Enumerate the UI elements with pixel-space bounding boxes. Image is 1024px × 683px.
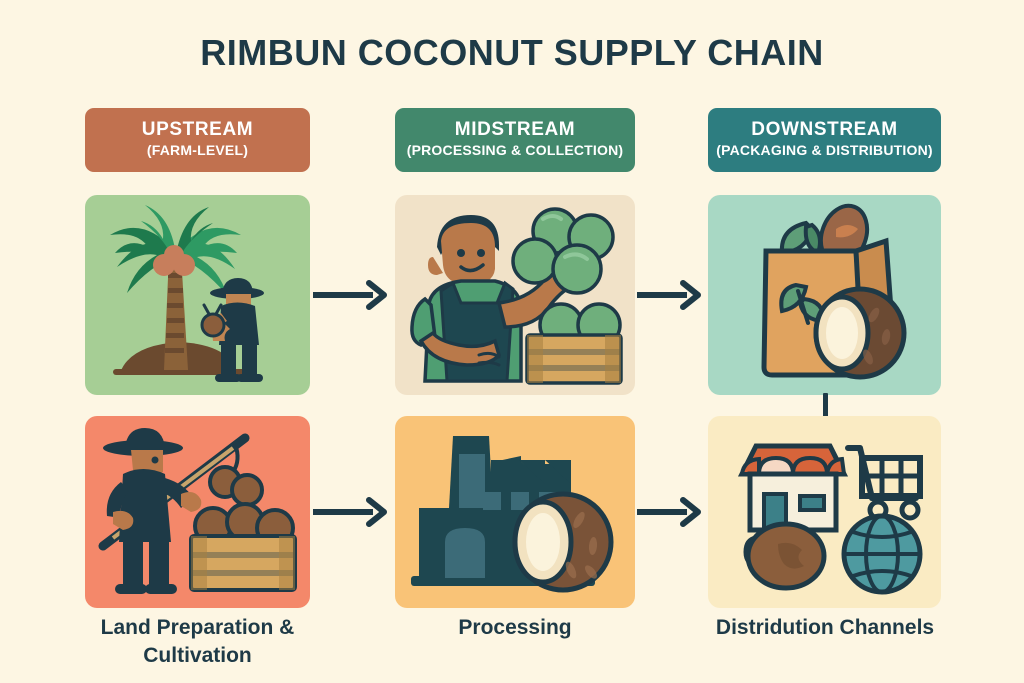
- panel-packaged-product: [708, 195, 941, 395]
- arrow-upstream-to-midstream-bottom: [313, 495, 393, 529]
- stage-subheading-downstream: (PACKAGING & DISTRIBUTION): [716, 142, 933, 160]
- caption-upstream: Land Preparation & Cultivation: [65, 614, 330, 670]
- worker-collecting-coconuts-icon: [412, 209, 621, 383]
- caption-midstream: Processing: [395, 614, 635, 642]
- factory-coconut-icon: [411, 436, 611, 590]
- panel-worker-collecting: [395, 195, 635, 395]
- panel-harvester-pole: [85, 416, 310, 608]
- page-title: RIMBUN COCONUT SUPPLY CHAIN: [0, 32, 1024, 74]
- arrow-midstream-to-downstream-bottom: [637, 495, 707, 529]
- globe-icon: [844, 516, 920, 592]
- packaged-product-bag-icon: [764, 199, 904, 377]
- stage-header-downstream: DOWNSTREAM (PACKAGING & DISTRIBUTION): [708, 108, 941, 172]
- stage-subheading-upstream: (FARM-LEVEL): [147, 142, 248, 160]
- palm-tree-farmer-icon: [110, 205, 264, 382]
- panel-factory-processing: [395, 416, 635, 608]
- stage-heading-downstream: DOWNSTREAM: [751, 120, 897, 140]
- stage-header-upstream: UPSTREAM (FARM-LEVEL): [85, 108, 310, 172]
- arrow-upstream-to-midstream-top: [313, 278, 393, 312]
- panel-distribution-channels: [708, 416, 941, 608]
- stage-heading-midstream: MIDSTREAM: [455, 120, 575, 140]
- infographic-canvas: RIMBUN COCONUT SUPPLY CHAIN UPSTREAM (FA…: [0, 0, 1024, 683]
- arrow-midstream-to-downstream-top: [637, 278, 707, 312]
- caption-downstream: Distridution Channels: [710, 614, 940, 642]
- harvester-pole-crate-icon: [103, 428, 295, 594]
- panel-palm-tree-farmer: [85, 195, 310, 395]
- connector-downstream-vertical: [823, 393, 828, 418]
- stage-subheading-midstream: (PROCESSING & COLLECTION): [407, 142, 624, 160]
- coconut-icon: [746, 524, 824, 588]
- storefront-icon: [742, 446, 844, 530]
- stage-heading-upstream: UPSTREAM: [142, 120, 253, 140]
- shopping-cart-icon: [848, 448, 920, 518]
- stage-header-midstream: MIDSTREAM (PROCESSING & COLLECTION): [395, 108, 635, 172]
